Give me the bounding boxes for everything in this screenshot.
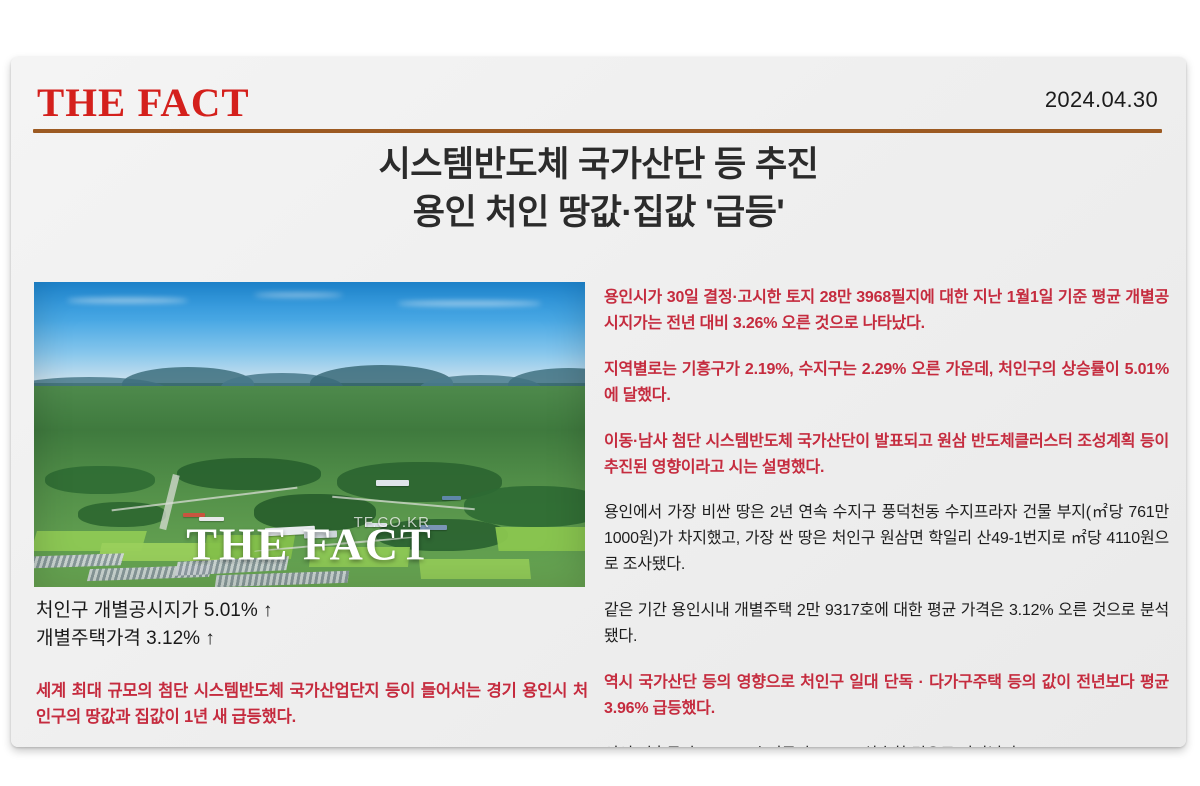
body-paragraph: 용인시가 30일 결정·고시한 토지 28만 3968필지에 대한 지난 1월1… <box>604 285 1169 337</box>
body-paragraph: 역시 국가산단 등의 영향으로 처인구 일대 단독 · 다가구주택 등의 값이 … <box>604 670 1169 722</box>
caption-stat-line-2: 개별주택가격 3.12% ↑ <box>36 625 588 653</box>
body-paragraph: 같은 기간 용인시내 개별주택 2만 9317호에 대한 평균 가격은 3.12… <box>604 598 1169 650</box>
header-divider <box>33 129 1162 133</box>
card-header: THE FACT 2024.04.30 <box>11 57 1186 135</box>
article-body: 용인시가 30일 결정·고시한 토지 28만 3968필지에 대한 지난 1월1… <box>604 269 1169 747</box>
caption-lead-paragraph: 세계 최대 규모의 첨단 시스템반도체 국가산업단지 등이 들어서는 경기 용인… <box>36 678 588 731</box>
body-paragraph: 용인에서 가장 비싼 땅은 2년 연속 수지구 풍덕천동 수지프라자 건물 부지… <box>604 500 1169 578</box>
body-paragraph: 지역별로는 기흥구가 2.19%, 수지구는 2.29% 오른 가운데, 처인구… <box>604 357 1169 409</box>
body-paragraph: 이동·남사 첨단 시스템반도체 국가산단이 발표되고 원삼 반도체클러스터 조성… <box>604 429 1169 481</box>
news-card-page: THE FACT 2024.04.30 시스템반도체 국가산단 등 추진 용인 … <box>0 0 1200 786</box>
the-fact-logo[interactable]: THE FACT <box>37 83 250 123</box>
article-card: THE FACT 2024.04.30 시스템반도체 국가산단 등 추진 용인 … <box>11 57 1186 747</box>
aerial-landscape-image: TF.CO.KR THE FACT <box>34 282 585 587</box>
publish-date: 2024.04.30 <box>1045 87 1158 113</box>
photo-caption: 처인구 개별공시지가 5.01% ↑ 개별주택가격 3.12% ↑ 세계 최대 … <box>36 597 588 731</box>
article-photo: TF.CO.KR THE FACT <box>34 282 585 587</box>
watermark-brand: THE FACT <box>186 518 432 571</box>
headline-line-2: 용인 처인 땅값·집값 '급등' <box>11 189 1186 237</box>
body-paragraph: 이어 기흥구가 2.65%, 수지구가 2.16% 상승한 것으로 나타났다. <box>604 742 1169 747</box>
headline-line-1: 시스템반도체 국가산단 등 추진 <box>11 141 1186 189</box>
page-title: 시스템반도체 국가산단 등 추진 용인 처인 땅값·집값 '급등' <box>11 141 1186 236</box>
caption-stat-line-1: 처인구 개별공시지가 5.01% ↑ <box>36 597 588 625</box>
